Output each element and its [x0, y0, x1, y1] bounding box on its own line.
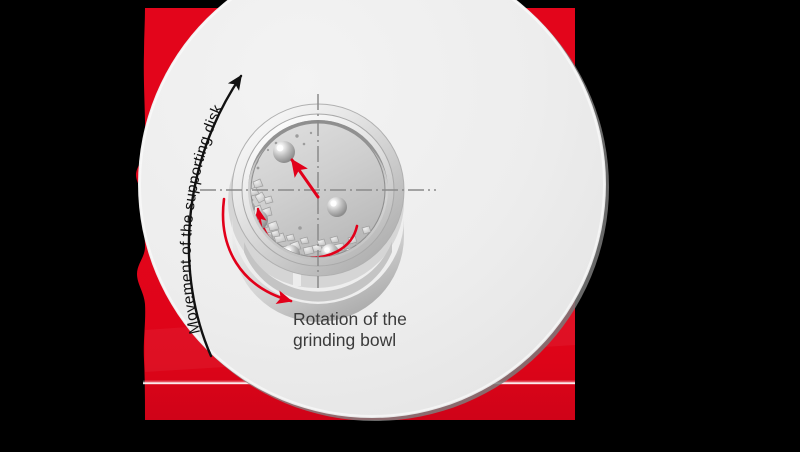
- rotation-label-line1: Rotation of the: [293, 309, 407, 329]
- diagram-canvas: Movement of the supporting disk: [0, 0, 800, 452]
- planetary-mill-diagram: Movement of the supporting disk: [0, 0, 800, 452]
- rotation-label-line2: grinding bowl: [293, 330, 396, 350]
- ball: [327, 197, 347, 217]
